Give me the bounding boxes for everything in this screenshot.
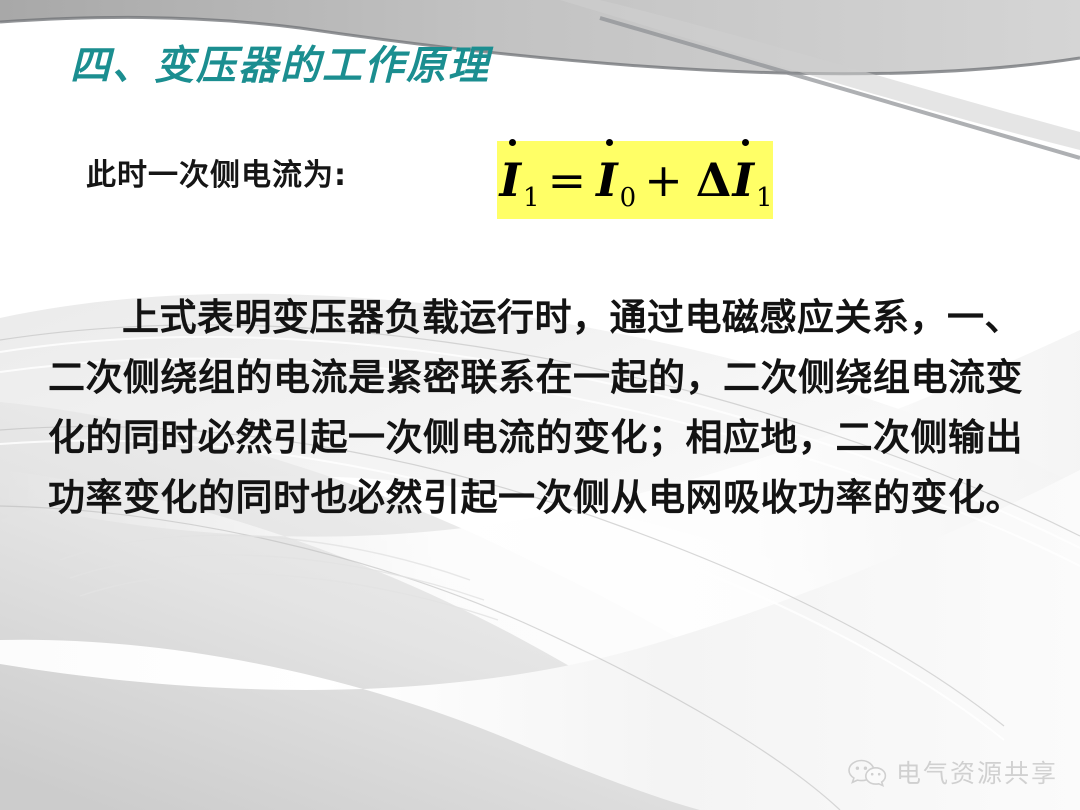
- body-line: 化的同时必然引起一次侧电流的变化；相应地，二次侧输出: [48, 408, 1040, 468]
- formula-equals-sign: =: [539, 153, 596, 207]
- wechat-icon: [846, 756, 888, 788]
- slide-title: 四、变压器的工作原理: [70, 42, 490, 90]
- formula-rhs-first-symbol: I: [595, 153, 619, 207]
- slide-canvas: 四、变压器的工作原理 此时一次侧电流为: I1=I0+ΔI1 上式表明变压器负载…: [0, 0, 1080, 810]
- body-line: 二次侧绕组的电流是紧密联系在一起的，二次侧绕组电流变: [48, 348, 1040, 408]
- formula-rhs-first-subscript: 0: [620, 183, 637, 213]
- formula-plus-sign: +: [635, 153, 692, 207]
- body-line: 上式表明变压器负载运行时，通过电磁感应关系，一、: [48, 288, 1040, 348]
- formula-delta-sign: Δ: [692, 153, 732, 207]
- formula-lhs-symbol: I: [498, 153, 522, 207]
- body-paragraph: 上式表明变压器负载运行时，通过电磁感应关系，一、 二次侧绕组的电流是紧密联系在一…: [48, 288, 1040, 528]
- watermark: 电气资源共享: [846, 754, 1058, 790]
- formula-rhs-second-subscript: 1: [756, 183, 773, 213]
- watermark-text: 电气资源共享: [896, 754, 1058, 790]
- formula-highlight-box: I1=I0+ΔI1: [497, 141, 773, 219]
- phasor-dot-icon: [509, 139, 516, 146]
- formula-rhs-second-symbol: I: [731, 153, 755, 207]
- lead-in-text: 此时一次侧电流为:: [86, 150, 347, 194]
- formula-equation: I1=I0+ΔI1: [498, 153, 771, 207]
- phasor-dot-icon: [606, 139, 613, 146]
- formula-lhs-subscript: 1: [523, 183, 540, 213]
- body-line: 功率变化的同时也必然引起一次侧从电网吸收功率的变化。: [48, 468, 1040, 528]
- phasor-dot-icon: [742, 139, 749, 146]
